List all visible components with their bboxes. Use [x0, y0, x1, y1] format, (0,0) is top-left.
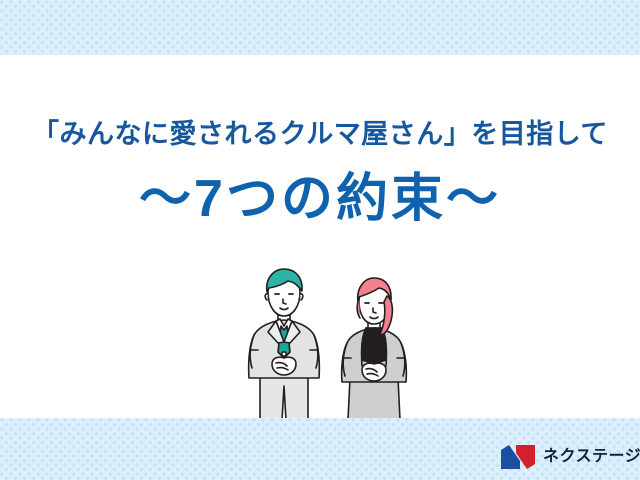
female-skirt	[348, 378, 400, 420]
nextage-n-mark-icon	[500, 444, 536, 470]
staff-illustration	[238, 268, 414, 420]
promo-banner: 「みんなに愛されるクルマ屋さん」を目指して 〜7つの約束〜	[0, 0, 640, 480]
brand-wordmark: ネクステージ	[543, 449, 640, 465]
male-jacket-button	[282, 352, 286, 356]
brand-logo: ネクステージ	[500, 441, 632, 473]
female-hands	[362, 363, 386, 381]
headline-block: 「みんなに愛されるクルマ屋さん」を目指して 〜7つの約束〜	[0, 118, 640, 230]
male-hands	[272, 357, 296, 375]
top-dotted-band	[0, 0, 640, 55]
male-staff-figure	[249, 269, 320, 420]
headline-primary-text: 「みんなに愛されるクルマ屋さん」を目指して	[0, 118, 640, 152]
headline-secondary-text: 〜7つの約束〜	[0, 168, 640, 230]
female-staff-figure	[342, 278, 407, 420]
male-trousers	[260, 374, 308, 420]
